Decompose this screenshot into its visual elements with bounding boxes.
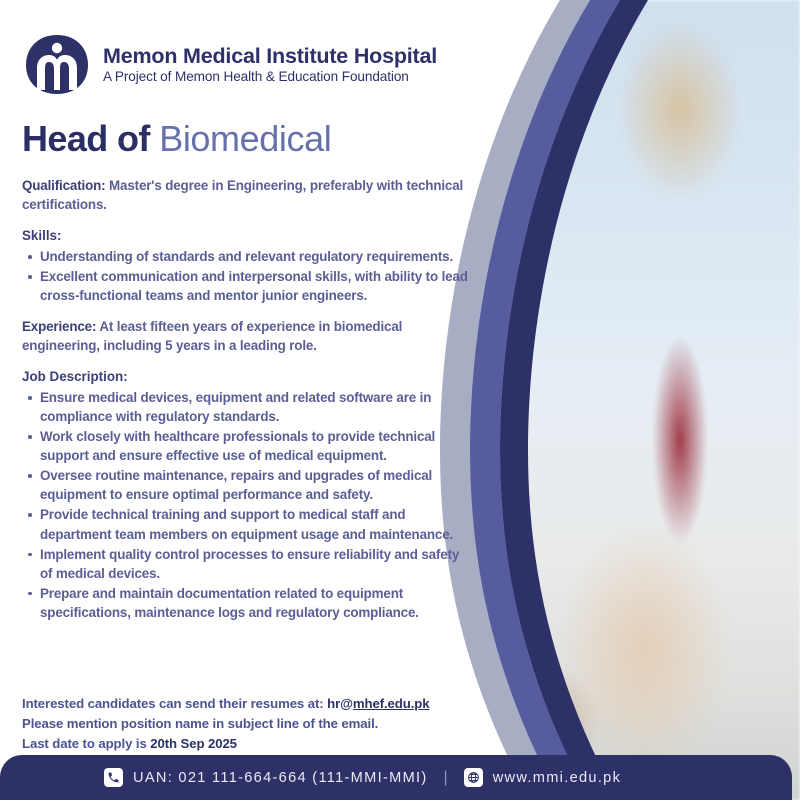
list-item: Excellent communication and interpersona…	[22, 267, 474, 305]
footer-website[interactable]: www.mmi.edu.pk	[464, 768, 622, 787]
job-description-list: Ensure medical devices, equipment and re…	[22, 388, 474, 621]
apply-email[interactable]: hr@mhef.edu.pk	[327, 696, 429, 711]
apply-lead-text: Interested candidates can send their res…	[22, 696, 327, 711]
job-details: Qualification: Master's degree in Engine…	[22, 176, 474, 634]
footer-phone-text: UAN: 021 111-664-664 (111-MMI-MMI)	[133, 770, 428, 786]
skills-block: Skills: Understanding of standards and r…	[22, 226, 474, 305]
footer-phone[interactable]: UAN: 021 111-664-664 (111-MMI-MMI)	[104, 768, 428, 787]
job-title-bold: Head of	[22, 118, 159, 159]
deadline-lead: Last date to apply is	[22, 736, 150, 751]
qualification-label: Qualification:	[22, 178, 105, 193]
list-item: Understanding of standards and relevant …	[22, 247, 474, 266]
experience-label: Experience:	[22, 319, 96, 334]
email-user: hr@	[327, 696, 353, 711]
footer-separator: |	[444, 769, 448, 787]
job-title-light: Biomedical	[159, 118, 331, 159]
phone-icon	[104, 768, 123, 787]
email-domain: mhef.edu.pk	[353, 696, 430, 711]
organization-tagline: A Project of Memon Health & Education Fo…	[103, 70, 437, 84]
list-item: Prepare and maintain documentation relat…	[22, 584, 474, 622]
apply-line-email: Interested candidates can send their res…	[22, 694, 429, 714]
list-item: Work closely with healthcare professiona…	[22, 427, 474, 465]
contact-footer: UAN: 021 111-664-664 (111-MMI-MMI) | www…	[0, 755, 792, 800]
skills-list: Understanding of standards and relevant …	[22, 247, 474, 305]
job-description-block: Job Description: Ensure medical devices,…	[22, 367, 474, 621]
qualification-block: Qualification: Master's degree in Engine…	[22, 176, 474, 214]
experience-block: Experience: At least fifteen years of ex…	[22, 317, 474, 355]
deadline-date: 20th Sep 2025	[150, 736, 237, 751]
job-title: Head of Biomedical	[22, 118, 331, 160]
apply-line-subject: Please mention position name in subject …	[22, 714, 429, 734]
mmi-logo-icon	[24, 34, 90, 96]
job-poster: Memon Medical Institute Hospital A Proje…	[0, 0, 800, 800]
apply-line-deadline: Last date to apply is 20th Sep 2025	[22, 734, 429, 754]
brand-header: Memon Medical Institute Hospital A Proje…	[24, 34, 437, 96]
footer-website-text: www.mmi.edu.pk	[493, 770, 622, 786]
application-instructions: Interested candidates can send their res…	[22, 694, 429, 754]
list-item: Provide technical training and support t…	[22, 505, 474, 543]
organization-name: Memon Medical Institute Hospital	[103, 45, 437, 68]
job-description-label: Job Description:	[22, 367, 474, 386]
list-item: Implement quality control processes to e…	[22, 545, 474, 583]
list-item: Oversee routine maintenance, repairs and…	[22, 466, 474, 504]
list-item: Ensure medical devices, equipment and re…	[22, 388, 474, 426]
globe-icon	[464, 768, 483, 787]
skills-label: Skills:	[22, 226, 474, 245]
